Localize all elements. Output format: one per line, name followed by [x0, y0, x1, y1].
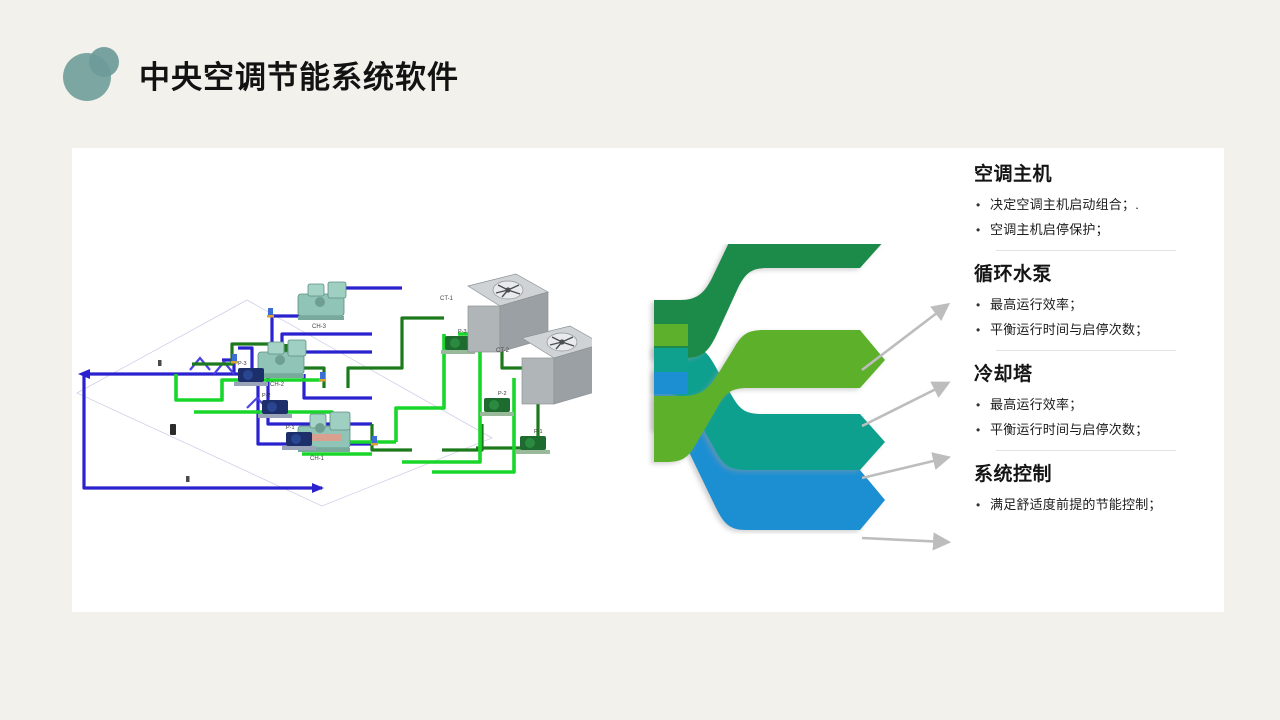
list-item-label: 满足舒适度前提的节能控制； — [990, 494, 1162, 516]
feature-section-pump: 循环水泵 • 最高运行效率； • 平衡运行时间与启停次数； — [974, 262, 1214, 351]
list-item-label: 平衡运行时间与启停次数； — [990, 319, 1148, 341]
pump-p2-chilled: P-2 — [258, 393, 292, 418]
connector-arrows — [852, 158, 992, 608]
list-item: • 满足舒适度前提的节能控制； — [974, 494, 1214, 516]
svg-text:P-1: P-1 — [534, 429, 543, 435]
svg-text:CH-1: CH-1 — [310, 456, 325, 462]
list-item: • 最高运行效率； — [974, 294, 1214, 316]
bullet-marker-icon: • — [976, 319, 990, 341]
bullet-marker-icon: • — [976, 219, 990, 241]
section-heading: 空调主机 — [974, 162, 1214, 188]
list-item-label: 决定空调主机启动组合；. — [990, 194, 1139, 216]
list-item: • 空调主机启停保护； — [974, 219, 1214, 241]
svg-text:CH-3: CH-3 — [312, 324, 327, 330]
svg-text:P-2: P-2 — [262, 393, 271, 399]
list-item: • 决定空调主机启动组合；. — [974, 194, 1214, 216]
section-heading: 冷却塔 — [974, 362, 1214, 388]
hvac-plant-schematic: CH-3 CH-2 CH-1 — [72, 248, 592, 508]
bullet-marker-icon: • — [976, 294, 990, 316]
content-card: CH-3 CH-2 CH-1 — [72, 148, 1224, 612]
page-title: 中央空调节能系统软件 — [139, 57, 459, 99]
flow-arrow-icon — [312, 483, 324, 493]
feature-section-system-control: 系统控制 • 满足舒适度前提的节能控制； — [974, 462, 1214, 516]
feature-section-cooling-tower: 冷却塔 • 最高运行效率； • 平衡运行时间与启停次数； — [974, 362, 1214, 451]
connector-arrow-chiller — [862, 306, 946, 370]
connector-arrow-cooling-tower — [862, 458, 946, 478]
bullet-marker-icon: • — [976, 194, 990, 216]
section-divider — [996, 350, 1176, 351]
svg-text:P-1: P-1 — [286, 425, 295, 431]
svg-text:CT-1: CT-1 — [440, 296, 454, 302]
bullet-marker-icon: • — [976, 394, 990, 416]
section-heading: 系统控制 — [974, 462, 1214, 488]
list-item-label: 最高运行效率； — [990, 394, 1082, 416]
slide-root: 中央空调节能系统软件 — [0, 0, 1280, 720]
feature-list: 空调主机 • 决定空调主机启动组合；. • 空调主机启停保护； 循环水泵 • 最… — [974, 162, 1214, 519]
svg-text:P-3: P-3 — [458, 329, 467, 335]
svg-text:P-2: P-2 — [498, 391, 507, 397]
list-item: • 平衡运行时间与启停次数； — [974, 319, 1214, 341]
connector-arrow-pump — [862, 384, 946, 426]
list-item: • 平衡运行时间与启停次数； — [974, 419, 1214, 441]
pump-p2-condenser: P-2 — [480, 391, 514, 416]
list-item-label: 平衡运行时间与启停次数； — [990, 419, 1148, 441]
logo-icon — [63, 47, 121, 103]
svg-text:CH-2: CH-2 — [270, 382, 285, 388]
svg-text:P-3: P-3 — [238, 361, 247, 367]
svg-text:CT-2: CT-2 — [496, 348, 510, 354]
chiller-ch3: CH-3 — [298, 282, 346, 330]
list-item-label: 最高运行效率； — [990, 294, 1082, 316]
logo-circle-small-icon — [89, 47, 119, 77]
slide-header: 中央空调节能系统软件 — [0, 0, 1280, 148]
list-item-label: 空调主机启停保护； — [990, 219, 1109, 241]
section-divider — [996, 450, 1176, 451]
list-item: • 最高运行效率； — [974, 394, 1214, 416]
bullet-marker-icon: • — [976, 494, 990, 516]
feature-section-chiller: 空调主机 • 决定空调主机启动组合；. • 空调主机启停保护； — [974, 162, 1214, 251]
connector-arrow-system-control — [862, 538, 946, 542]
bullet-marker-icon: • — [976, 419, 990, 441]
chilled-water-piping — [84, 288, 402, 488]
section-heading: 循环水泵 — [974, 262, 1214, 288]
pump-p1-condenser: P-1 — [516, 429, 550, 454]
section-divider — [996, 250, 1176, 251]
